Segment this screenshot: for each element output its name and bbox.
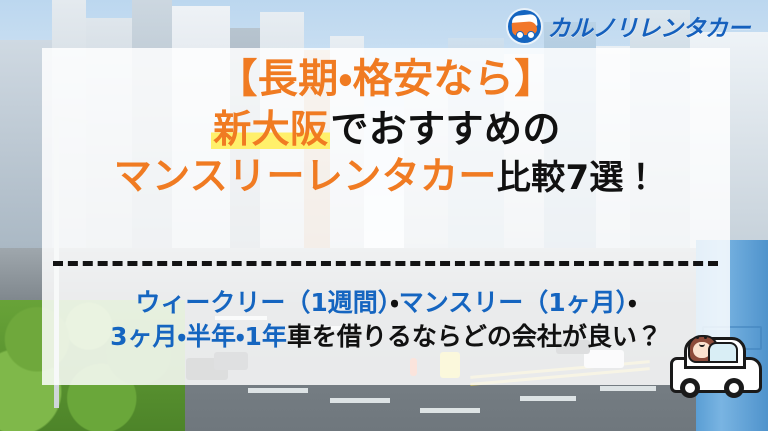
subtitle-monthly: マンスリー（1ヶ月） — [399, 288, 628, 317]
lane-marking — [600, 386, 656, 391]
headline-line-2: 新大阪でおすすめの — [42, 107, 730, 152]
subtitle-block: ウィークリー（1週間）・マンスリー（1ヶ月）・ 3ヶ月・半年・1年車を借りるなら… — [42, 286, 730, 354]
headline-block: 【長期・格安なら】 新大阪でおすすめの マンスリーレンタカー比較7選！ — [42, 56, 730, 199]
headline-line-3-black: 比較7選！ — [497, 158, 659, 198]
subtitle-question: 車を借りるならどの会社が良い？ — [287, 322, 662, 351]
brand-logo[interactable]: カルノリレンタカー — [508, 9, 751, 43]
headline-line-1: 【長期・格安なら】 — [42, 56, 730, 103]
lane-marking — [420, 408, 480, 413]
lane-marking — [248, 388, 308, 393]
eyecatch-banner: カルノリレンタカー 【長期・格安なら】 新大阪でおすすめの マンスリーレンタカー… — [0, 0, 768, 431]
lane-marking — [520, 396, 576, 401]
dashed-divider — [53, 261, 718, 266]
headline-line-3: マンスリーレンタカー比較7選！ — [42, 154, 730, 199]
subtitle-periods: 3ヶ月・半年・1年 — [110, 322, 287, 351]
brand-logo-text: カルノリレンタカー — [548, 9, 751, 43]
subtitle-line-1: ウィークリー（1週間）・マンスリー（1ヶ月）・ — [42, 286, 730, 320]
subtitle-line-2: 3ヶ月・半年・1年車を借りるならどの会社が良い？ — [42, 320, 730, 354]
lane-marking — [330, 398, 390, 403]
subtitle-separator: ・ — [390, 288, 399, 317]
woman-driving-car-illustration — [668, 331, 764, 403]
headline-highlight-term: 新大阪 — [211, 107, 330, 151]
headline-line-3-orange: マンスリーレンタカー — [114, 154, 497, 198]
headline-line-2-rest: でおすすめの — [330, 107, 560, 151]
car-circle-icon — [508, 10, 541, 43]
subtitle-separator-2: ・ — [628, 288, 637, 317]
subtitle-weekly: ウィークリー（1週間） — [135, 288, 390, 317]
